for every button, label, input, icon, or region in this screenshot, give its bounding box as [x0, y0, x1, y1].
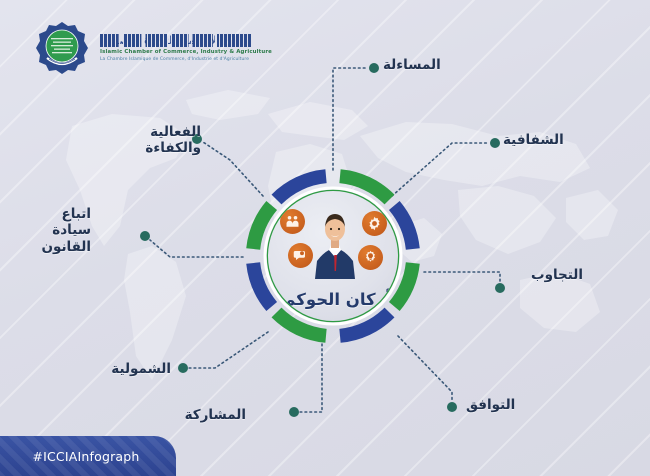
- infographic-canvas: الغرفة الإسلامية للتجارة والصناعة والزرا…: [0, 0, 650, 476]
- node-label-rule-of-law-line2: سيادة: [41, 222, 91, 238]
- node-label-rule-of-law-line3: القانون: [41, 239, 91, 255]
- hashtag-banner: #ICCIAInfograph: [0, 436, 176, 476]
- node-label-rule-of-law-line1: اتباع: [41, 206, 91, 222]
- logo-english-name: Islamic Chamber of Commerce, Industry & …: [100, 49, 272, 55]
- logo-french-name: La Chambre Islamique de Commerce, d'Indu…: [100, 57, 272, 62]
- gear-small-icon: [362, 211, 387, 236]
- node-label-effectiveness-line1: الفعالية: [145, 124, 201, 140]
- node-label-effectiveness-line2: والكفاءة: [145, 140, 201, 156]
- node-label-effectiveness: الفعالية والكفاءة: [145, 124, 201, 157]
- node-label-rule-of-law: اتباع سيادة القانون: [41, 206, 91, 255]
- node-label-transparency: الشفافية: [503, 132, 564, 148]
- lightbulb-gear-icon: [358, 245, 383, 270]
- central-hub: أركان الحوكمة: [243, 166, 423, 346]
- hub-inner-disc: أركان الحوكمة: [268, 191, 398, 321]
- node-label-consensus: التوافق: [466, 397, 515, 413]
- chat-bubble-icon: [288, 243, 313, 268]
- hub-title: أركان الحوكمة: [275, 290, 391, 309]
- logo-arabic-name: الغرفة الإسلامية للتجارة والصناعة والزرا…: [100, 34, 252, 47]
- header: الغرفة الإسلامية للتجارة والصناعة والزرا…: [34, 20, 272, 76]
- hub-icon-row: [268, 203, 398, 279]
- node-label-accountability: المساءلة: [383, 57, 441, 73]
- iccia-emblem-icon: [34, 20, 90, 76]
- hashtag-text: #ICCIAInfograph: [32, 449, 139, 464]
- node-label-inclusiveness: الشمولية: [111, 361, 171, 377]
- people-icon: [280, 209, 305, 234]
- logo-text-block: الغرفة الإسلامية للتجارة والصناعة والزرا…: [100, 34, 272, 62]
- node-label-responsiveness: التجاوب: [531, 267, 583, 283]
- businessman-portrait: [315, 205, 355, 279]
- node-label-participation: المشاركة: [185, 407, 246, 423]
